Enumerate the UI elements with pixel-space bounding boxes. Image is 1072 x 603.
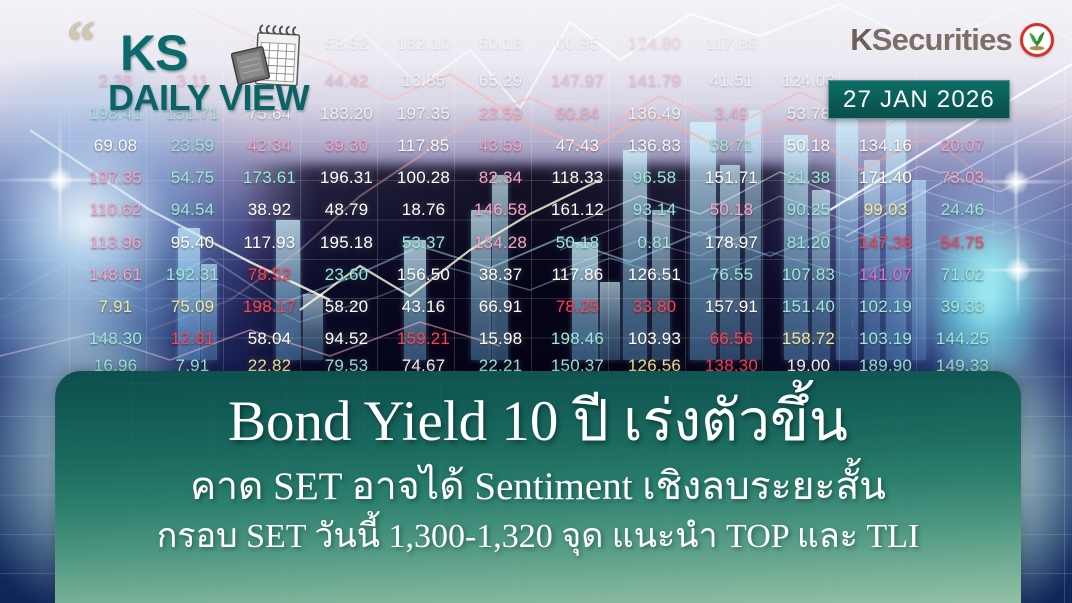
seedling-icon bbox=[1020, 23, 1054, 57]
ticker-value: 148.30 bbox=[77, 329, 154, 349]
ticker-value: 69.08 bbox=[77, 136, 154, 156]
ticker-value: 21.38 bbox=[770, 168, 847, 188]
ticker-value: 126.51 bbox=[616, 265, 693, 285]
quote-open-icon: “ bbox=[66, 12, 95, 70]
ticker-value bbox=[0, 200, 77, 220]
ticker-row: 113.9695.40117.93195.1853.37134.2850.180… bbox=[0, 233, 1072, 253]
ticker-value bbox=[1001, 329, 1072, 349]
ticker-value: 182.10 bbox=[385, 34, 462, 54]
ksecurities-logo: KSecurities bbox=[850, 22, 1054, 58]
ticker-value: 146.58 bbox=[462, 200, 539, 220]
ticker-value: 117.85 bbox=[385, 136, 462, 156]
ticker-value: 3.49 bbox=[693, 104, 770, 124]
ticker-value: 178.97 bbox=[693, 233, 770, 253]
ticker-value: 134.16 bbox=[847, 136, 924, 156]
ticker-value: 136.83 bbox=[616, 136, 693, 156]
ticker-value bbox=[0, 168, 77, 188]
ticker-row: 7.9175.09198.1758.2043.1666.9178.2533.80… bbox=[0, 297, 1072, 317]
ticker-value: 99.03 bbox=[847, 200, 924, 220]
ticker-value bbox=[770, 34, 847, 54]
ticker-value: 134.28 bbox=[462, 233, 539, 253]
ticker-value: 50.18 bbox=[539, 233, 616, 253]
ticker-value: 75.09 bbox=[154, 297, 231, 317]
ticker-value: 113.96 bbox=[77, 233, 154, 253]
headline-sub-1: คาด SET อาจได้ Sentiment เชิงลบระยะสั้น bbox=[83, 467, 993, 506]
ticker-value: 33.80 bbox=[616, 297, 693, 317]
ks-logo-subtitle: DAILY VIEW bbox=[108, 80, 309, 116]
ticker-value bbox=[1001, 297, 1072, 317]
ticker-value bbox=[1001, 233, 1072, 253]
ticker-value: 18.76 bbox=[385, 200, 462, 220]
ticker-value: 118.33 bbox=[539, 168, 616, 188]
ticker-value: 141.79 bbox=[616, 71, 693, 91]
ticker-value: 94.52 bbox=[308, 329, 385, 349]
ticker-value bbox=[1001, 265, 1072, 285]
ticker-value: 48.79 bbox=[308, 200, 385, 220]
ticker-value: 156.50 bbox=[385, 265, 462, 285]
ticker-value: 161.12 bbox=[539, 200, 616, 220]
ticker-value: 42.34 bbox=[231, 136, 308, 156]
ticker-value: 24.46 bbox=[924, 200, 1001, 220]
date-badge: 27 JAN 2026 bbox=[828, 80, 1010, 119]
ticker-row: 110.6294.5438.9248.7918.76146.58161.1293… bbox=[0, 200, 1072, 220]
ticker-value: 147.97 bbox=[539, 71, 616, 91]
ticker-value: 53.37 bbox=[385, 233, 462, 253]
ticker-value: 38.37 bbox=[462, 265, 539, 285]
ticker-value: 93.14 bbox=[616, 200, 693, 220]
ticker-value: 94.54 bbox=[154, 200, 231, 220]
ticker-value: 117.85 bbox=[693, 34, 770, 54]
ticker-row: 148.61192.3178.5223.60156.5038.37117.861… bbox=[0, 265, 1072, 285]
ticker-value: 66.56 bbox=[693, 329, 770, 349]
ticker-value bbox=[1001, 104, 1072, 124]
ticker-value: 103.93 bbox=[616, 329, 693, 349]
ticker-value: 78.52 bbox=[231, 265, 308, 285]
ticker-value: 76.55 bbox=[693, 265, 770, 285]
ticker-value bbox=[0, 297, 77, 317]
ticker-value: 103.19 bbox=[847, 329, 924, 349]
ticker-row: 69.0823.5942.3439.30117.8543.5947.43136.… bbox=[0, 136, 1072, 156]
ticker-value: 78.25 bbox=[539, 297, 616, 317]
ticker-value: 60.84 bbox=[539, 104, 616, 124]
ticker-value: 54.75 bbox=[924, 233, 1001, 253]
ticker-value: 71.02 bbox=[924, 265, 1001, 285]
ticker-value: 50.18 bbox=[770, 136, 847, 156]
ticker-value bbox=[1001, 71, 1072, 91]
ticker-value: 195.18 bbox=[308, 233, 385, 253]
ks-daily-view-logo: “ ” bbox=[66, 18, 336, 122]
ksecurities-wordmark: KSecurities bbox=[850, 22, 1012, 58]
ticker-value: 148.61 bbox=[77, 265, 154, 285]
ticker-value: 124.80 bbox=[616, 34, 693, 54]
ticker-value: 20.07 bbox=[924, 136, 1001, 156]
ticker-value: 144.25 bbox=[924, 329, 1001, 349]
ticker-value: 102.19 bbox=[847, 297, 924, 317]
ticker-value bbox=[1001, 136, 1072, 156]
ticker-value: 65.29 bbox=[462, 71, 539, 91]
ticker-value: 50.18 bbox=[462, 34, 539, 54]
ticker-value: 50.18 bbox=[693, 200, 770, 220]
headline-banner: Bond Yield 10 ปี เร่งตัวขึ้น คาด SET อาจ… bbox=[55, 371, 1021, 603]
ticker-value: 58.20 bbox=[308, 297, 385, 317]
ticker-value: 157.91 bbox=[693, 297, 770, 317]
ticker-value: 41.51 bbox=[693, 71, 770, 91]
ticker-value: 82.34 bbox=[462, 168, 539, 188]
ticker-value: 0.81 bbox=[616, 233, 693, 253]
ticker-value bbox=[1001, 200, 1072, 220]
ticker-value: 196.31 bbox=[308, 168, 385, 188]
ticker-value: 198.17 bbox=[231, 297, 308, 317]
ticker-value: 141.07 bbox=[847, 265, 924, 285]
ticker-value: 15.98 bbox=[462, 329, 539, 349]
ticker-value: 198.46 bbox=[539, 329, 616, 349]
ticker-value: 73.03 bbox=[924, 168, 1001, 188]
ticker-value bbox=[0, 329, 77, 349]
ticker-value: 197.35 bbox=[385, 104, 462, 124]
ticker-value: 136.49 bbox=[616, 104, 693, 124]
ticker-value: 117.93 bbox=[231, 233, 308, 253]
ticker-value: 81.20 bbox=[770, 233, 847, 253]
ticker-row: 148.3012.8158.0494.52159.2115.98198.4610… bbox=[0, 329, 1072, 349]
ticker-value: 60.95 bbox=[539, 34, 616, 54]
ksecurities-k: K bbox=[850, 22, 872, 57]
ticker-value: 147.38 bbox=[847, 233, 924, 253]
ticker-value: 107.83 bbox=[770, 265, 847, 285]
ticker-value: 110.62 bbox=[77, 200, 154, 220]
ticker-value: 23.59 bbox=[154, 136, 231, 156]
ticker-value: 173.61 bbox=[231, 168, 308, 188]
ticker-value: 100.28 bbox=[385, 168, 462, 188]
ticker-value bbox=[0, 265, 77, 285]
ticker-value: 66.91 bbox=[462, 297, 539, 317]
ksecurities-rest: Securities bbox=[872, 22, 1012, 57]
ticker-value: 197.35 bbox=[77, 168, 154, 188]
ticker-value: 151.40 bbox=[770, 297, 847, 317]
ticker-value bbox=[0, 136, 77, 156]
ticker-value: 23.60 bbox=[308, 265, 385, 285]
date-badge-label: 27 JAN 2026 bbox=[843, 86, 995, 114]
ticker-value: 12.81 bbox=[154, 329, 231, 349]
ticker-value: 58.04 bbox=[231, 329, 308, 349]
ticker-value: 95.40 bbox=[154, 233, 231, 253]
headline-sub-2: กรอบ SET วันนี้ 1,300-1,320 จุด แนะนำ TO… bbox=[83, 520, 993, 554]
ticker-value: 47.43 bbox=[539, 136, 616, 156]
ticker-value: 43.16 bbox=[385, 297, 462, 317]
ticker-value: 43.59 bbox=[462, 136, 539, 156]
ticker-value: 96.58 bbox=[616, 168, 693, 188]
ticker-value: 158.72 bbox=[770, 329, 847, 349]
ticker-value: 159.21 bbox=[385, 329, 462, 349]
ticker-value: 38.92 bbox=[231, 200, 308, 220]
ticker-value: 23.59 bbox=[462, 104, 539, 124]
ticker-value bbox=[0, 233, 77, 253]
poster-root: 86.6159.92182.1050.1860.95124.80117.852.… bbox=[0, 0, 1072, 603]
ticker-value: 39.33 bbox=[924, 297, 1001, 317]
ticker-value: 7.91 bbox=[77, 297, 154, 317]
ticker-value: 54.75 bbox=[154, 168, 231, 188]
ticker-value: 117.86 bbox=[539, 265, 616, 285]
ticker-value: 151.71 bbox=[693, 168, 770, 188]
ticker-value bbox=[1001, 168, 1072, 188]
ticker-value: 58.71 bbox=[693, 136, 770, 156]
ticker-value: 39.30 bbox=[308, 136, 385, 156]
ticker-value: 90.25 bbox=[770, 200, 847, 220]
ticker-value: 171.40 bbox=[847, 168, 924, 188]
ticker-value: 13.85 bbox=[385, 71, 462, 91]
ticker-row: 197.3554.75173.61196.31100.2882.34118.33… bbox=[0, 168, 1072, 188]
ks-logo-title: KS bbox=[120, 30, 187, 77]
ticker-value: 192.31 bbox=[154, 265, 231, 285]
headline-main: Bond Yield 10 ปี เร่งตัวขึ้น bbox=[83, 393, 993, 450]
